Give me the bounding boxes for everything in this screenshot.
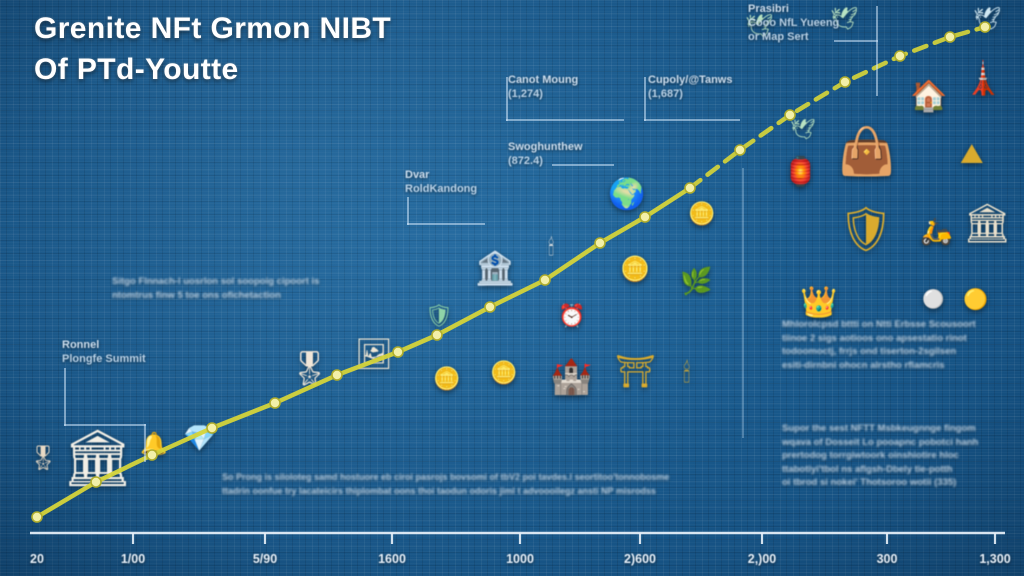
callout-canot-label: Canot Moung [508, 73, 578, 87]
leader-horizontal [644, 119, 740, 121]
leader-vertical-2 [144, 424, 146, 462]
paragraph-right-note-1: Mhlorolcpsd bttti on Ntti Erbsse Scousoo… [782, 318, 1020, 372]
page-title: Grenite NFt Grmon NIBT Of PTd-Youtte [34, 8, 504, 90]
leader-horizontal [834, 40, 878, 42]
paragraph-line: ttadrin oonfue try lacateicirs thiplomba… [222, 484, 754, 498]
paragraph-line: prertodog torrgiwtoork oinshiotire hloc [782, 449, 1020, 463]
callout-straight-label: Swoghunthew [508, 140, 583, 154]
x-axis-tick-label: 1000 [506, 552, 534, 566]
callout-straight-value: (872.4) [508, 154, 583, 168]
paragraph-line: Supor the sest NFTT Msbkeugnnge fingom [782, 422, 1020, 436]
paragraph-line: tiinoe 2 sigs aotioos ono apsestatio rin… [782, 332, 1020, 346]
leader-vertical [644, 77, 646, 121]
callout-cupoly-label: Cupoly/@Tanws [648, 73, 732, 87]
paragraph-line: ntomtrus finw 5 toe ons ofichetaction [112, 289, 382, 303]
title-line-1: Grenite NFt Grmon NIBT [34, 8, 504, 49]
callout-dvar-label: Dvar [405, 168, 477, 182]
x-axis-tick-label: 2,)00 [748, 552, 777, 566]
paragraph-line: Sitgo Flnnach-l uosrlon sol soopoig cipo… [112, 275, 382, 289]
infographic-canvas: Grenite NFt Grmon NIBT Of PTd-Youtte 🏛🎖🔔… [0, 0, 1024, 576]
callout-canot-value: (1,274) [508, 87, 578, 101]
leader-horizontal [407, 223, 485, 225]
paragraph-line: Mhlorolcpsd bttti on Ntti Erbsse Scousoo… [782, 318, 1020, 332]
paragraph-left-note: Sitgo Flnnach-l uosrlon sol soopoig cipo… [112, 275, 382, 302]
callout-left-peak-value: Plongfe Summit [62, 352, 146, 366]
leader-vertical [876, 6, 878, 40]
paragraph-line: esiti-dirnbni ohocn alrstho rflamcris [782, 359, 1020, 373]
callout-cupoly-value: (1,687) [648, 87, 732, 101]
callout-dvar-value: RoldKandong [405, 182, 477, 196]
paragraph-bottom-note: So Prong is siloloteg samd hostuore eb c… [222, 470, 754, 498]
leader-vertical [407, 197, 409, 225]
x-axis-tick-label: 2)600 [624, 552, 656, 566]
x-axis-tick-label: 1600 [378, 552, 406, 566]
x-axis-ticks [133, 533, 995, 544]
callout-cupoly[interactable]: Cupoly/@Tanws (1,687) [648, 73, 732, 101]
leader-horizontal [506, 119, 624, 121]
callout-straight[interactable]: Swoghunthew (872.4) [508, 140, 583, 168]
callout-top-right[interactable]: Prasibri Cooo NfL Yueeng or Map Sert [748, 2, 839, 44]
callout-left-peak[interactable]: Ronnel Plongfe Summit [62, 338, 146, 366]
paragraph-line: ttabotiyi'tbol ns aflgsh-Dbely tie-potth [782, 463, 1020, 477]
paragraph-line: oi tbrod si nokei' Thotsoroo wotii (335) [782, 476, 1020, 490]
callout-dvar[interactable]: Dvar RoldKandong [405, 168, 477, 196]
leader-horizontal [64, 424, 146, 426]
x-axis-tick-label: 1/00 [121, 552, 145, 566]
right-section-divider [742, 168, 744, 438]
callout-top-right-value: Cooo NfL Yueeng [748, 16, 839, 30]
paragraph-line: wqava of Dosseit Lo pooapnc pobotci hanh [782, 436, 1020, 450]
x-axis-tick-label: 1,300 [979, 552, 1010, 566]
callout-canot[interactable]: Canot Moung (1,274) [508, 73, 578, 101]
leader-vertical [64, 368, 66, 426]
paragraph-right-note-2: Supor the sest NFTT Msbkeugnnge fingom w… [782, 422, 1020, 490]
paragraph-line: todoomoctj, frrjs ond tiserton-2sgilsen [782, 345, 1020, 359]
x-axis-tick-label: 5/90 [253, 552, 277, 566]
leader-vertical [506, 77, 508, 121]
leader-vertical-2 [876, 40, 878, 96]
title-line-2: Of PTd-Youtte [34, 49, 504, 90]
callout-left-peak-label: Ronnel [62, 338, 146, 352]
callout-top-right-value2: or Map Sert [748, 30, 839, 44]
paragraph-line: So Prong is siloloteg samd hostuore eb c… [222, 470, 754, 484]
leader-horizontal [552, 164, 614, 166]
callout-top-right-label: Prasibri [748, 2, 839, 16]
x-axis-tick-label: 300 [877, 552, 898, 566]
x-axis-tick-label: 20 [30, 552, 44, 566]
